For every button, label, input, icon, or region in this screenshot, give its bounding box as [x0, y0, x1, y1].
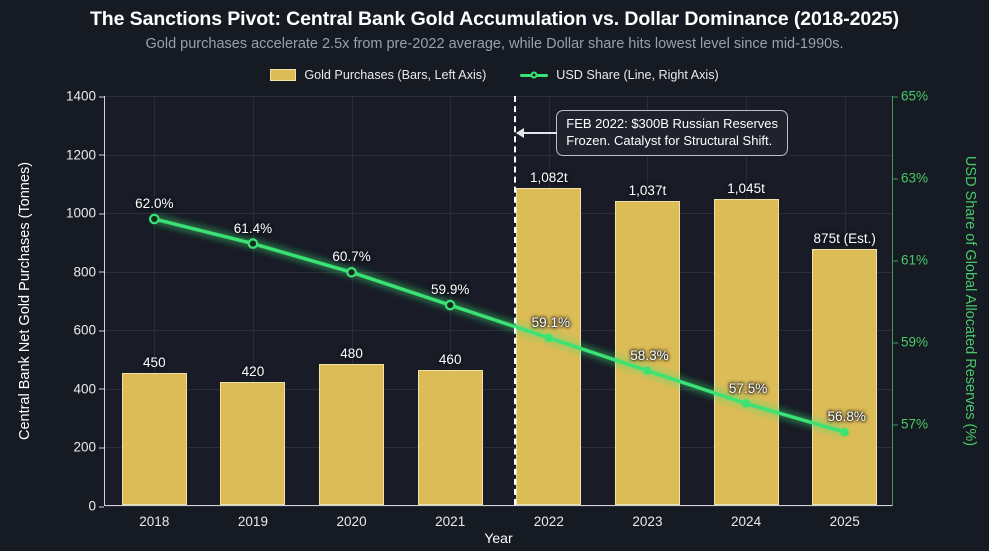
bar-2019[interactable] [220, 382, 285, 505]
chart-legend: Gold Purchases (Bars, Left Axis) USD Sha… [0, 68, 989, 82]
line-value-label-2023: 58.3% [630, 348, 668, 363]
bar-value-label-2020: 480 [340, 346, 363, 361]
y-axis-right-tick: 63% [901, 171, 928, 186]
x-axis-tick: 2024 [731, 514, 761, 529]
y-axis-left-tick: 0 [88, 499, 96, 514]
x-axis-tick: 2025 [830, 514, 860, 529]
gridline-horizontal [105, 96, 892, 97]
legend-label-usd-share: USD Share (Line, Right Axis) [556, 68, 718, 82]
annotation-line-2: Frozen. Catalyst for Structural Shift. [566, 133, 778, 150]
x-axis-tick: 2022 [534, 514, 564, 529]
bar-value-label-2024: 1,045t [727, 181, 765, 196]
y-axis-right-title: USD Share of Global Allocated Reserves (… [959, 96, 981, 506]
line-value-label-2024: 57.5% [729, 381, 767, 396]
line-value-label-2021: 59.9% [431, 282, 469, 297]
line-value-label-2022: 59.1% [532, 315, 570, 330]
y-axis-right-tick: 59% [901, 335, 928, 350]
bar-value-label-2023: 1,037t [629, 183, 667, 198]
x-axis-tick: 2023 [632, 514, 662, 529]
y-axis-right-tick: 61% [901, 253, 928, 268]
line-swatch-icon [520, 69, 548, 81]
bar-value-label-2018: 450 [143, 355, 166, 370]
y-axis-left-tick: 200 [73, 440, 96, 455]
bar-value-label-2022: 1,082t [530, 170, 568, 185]
plot-inner: 020040060080010001200140057%59%61%63%65%… [105, 96, 892, 505]
y-axis-left-tick: 1000 [66, 206, 96, 221]
bar-2022[interactable] [516, 188, 581, 505]
x-axis-tick: 2018 [139, 514, 169, 529]
chart-container: The Sanctions Pivot: Central Bank Gold A… [0, 0, 989, 551]
y-axis-left-tick: 800 [73, 264, 96, 279]
bar-value-label-2025: 875t (Est.) [814, 231, 876, 246]
y-axis-left-title: Central Bank Net Gold Purchases (Tonnes) [14, 96, 36, 506]
line-value-label-2020: 60.7% [332, 249, 370, 264]
y-axis-left-tick: 1400 [66, 89, 96, 104]
event-annotation-box: FEB 2022: $300B Russian ReservesFrozen. … [556, 110, 788, 156]
legend-item-usd-share[interactable]: USD Share (Line, Right Axis) [520, 68, 718, 82]
bar-2018[interactable] [122, 373, 187, 505]
bar-2024[interactable] [714, 199, 779, 505]
annotation-line-1: FEB 2022: $300B Russian Reserves [566, 116, 778, 133]
line-value-label-2019: 61.4% [234, 221, 272, 236]
bar-2020[interactable] [319, 364, 384, 505]
bar-swatch-icon [270, 69, 296, 81]
gridline-horizontal [105, 506, 892, 507]
line-value-label-2018: 62.0% [135, 196, 173, 211]
plot-area: 020040060080010001200140057%59%61%63%65%… [104, 96, 893, 506]
y-axis-right-tick: 65% [901, 89, 928, 104]
bar-value-label-2019: 420 [242, 364, 265, 379]
y-axis-left-tick: 400 [73, 381, 96, 396]
y-axis-right-tick: 57% [901, 417, 928, 432]
legend-label-gold-purchases: Gold Purchases (Bars, Left Axis) [304, 68, 486, 82]
chart-subtitle: Gold purchases accelerate 2.5x from pre-… [0, 36, 989, 52]
x-axis-tick: 2021 [435, 514, 465, 529]
y-axis-left-tick: 1200 [66, 147, 96, 162]
bar-value-label-2021: 460 [439, 352, 462, 367]
x-axis-tick: 2019 [238, 514, 268, 529]
x-axis-title: Year [104, 530, 893, 546]
bar-2021[interactable] [418, 370, 483, 505]
line-value-label-2025: 56.8% [828, 409, 866, 424]
x-axis-tick: 2020 [337, 514, 367, 529]
bar-2025[interactable] [812, 249, 877, 505]
event-marker-line [514, 96, 516, 505]
annotation-arrow-icon [517, 132, 557, 134]
y-axis-left-tick: 600 [73, 323, 96, 338]
chart-title: The Sanctions Pivot: Central Bank Gold A… [0, 8, 989, 31]
legend-item-gold-purchases[interactable]: Gold Purchases (Bars, Left Axis) [270, 68, 486, 82]
